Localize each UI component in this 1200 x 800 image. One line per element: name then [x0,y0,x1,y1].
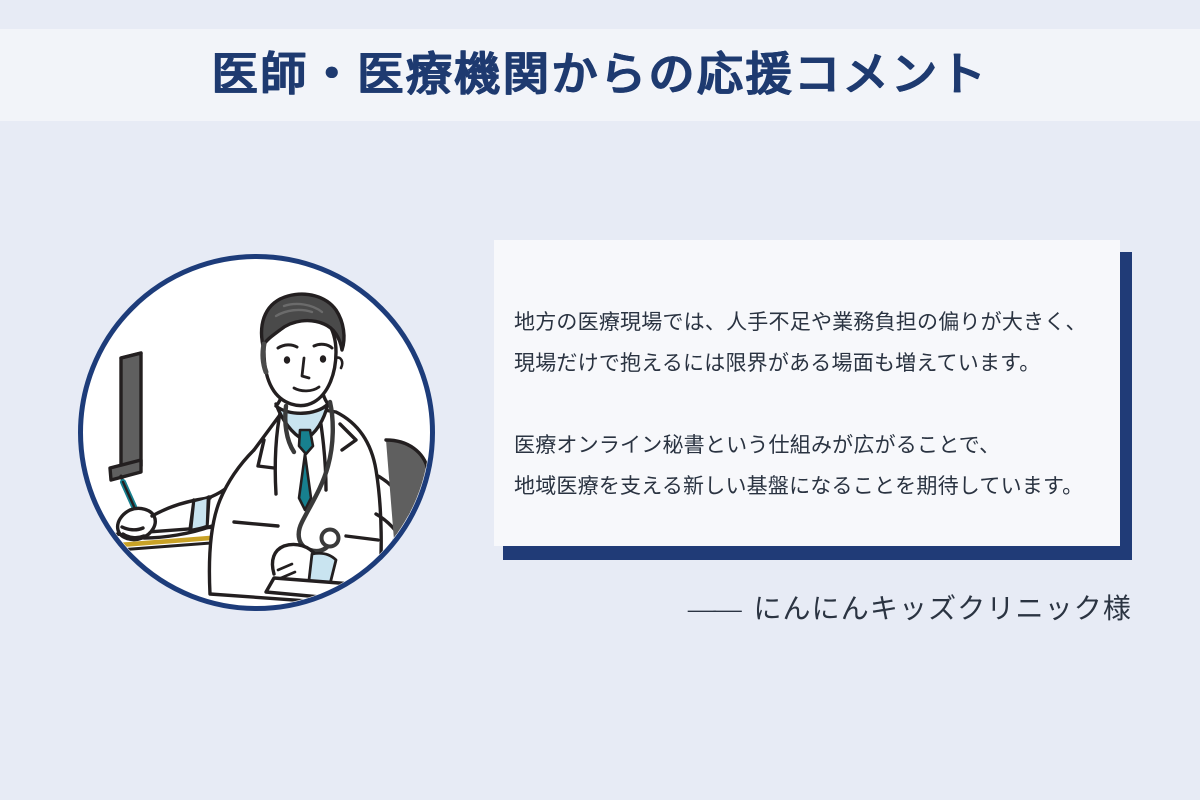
header-band: 医師・医療機関からの応援コメント [0,29,1200,121]
attribution-dash: —— [688,588,740,632]
comment-paragraph-1: 地方の医療現場では、人手不足や業務負担の偏りが大きく、 現場だけで抱えるには限界… [514,302,1114,384]
portrait-illustration [78,254,435,611]
comment-card: 地方の医療現場では、人手不足や業務負担の偏りが大きく、 現場だけで抱えるには限界… [494,240,1132,560]
comment-line: 地方の医療現場では、人手不足や業務負担の偏りが大きく、 [514,302,1114,343]
card-surface: 地方の医療現場では、人手不足や業務負担の偏りが大きく、 現場だけで抱えるには限界… [494,240,1120,546]
comment-line: 現場だけで抱えるには限界がある場面も増えています。 [514,343,1114,384]
doctor-illustration-icon [78,254,435,611]
attribution-name: にんにんキッズクリニック様 [753,594,1132,625]
portrait-circle-frame [78,254,435,611]
comment-line: 医療オンライン秘書という仕組みが広がることで、 [514,425,1114,466]
page-title: 医師・医療機関からの応援コメント [212,52,988,98]
attribution: ——にんにんキッズクリニック様 [494,588,1132,632]
comment-line: 地域医療を支える新しい基盤になることを期待しています。 [514,466,1114,507]
comment-paragraph-2: 医療オンライン秘書という仕組みが広がることで、 地域医療を支える新しい基盤になる… [514,425,1114,507]
comment-text-block: 地方の医療現場では、人手不足や業務負担の偏りが大きく、 現場だけで抱えるには限界… [514,302,1114,507]
